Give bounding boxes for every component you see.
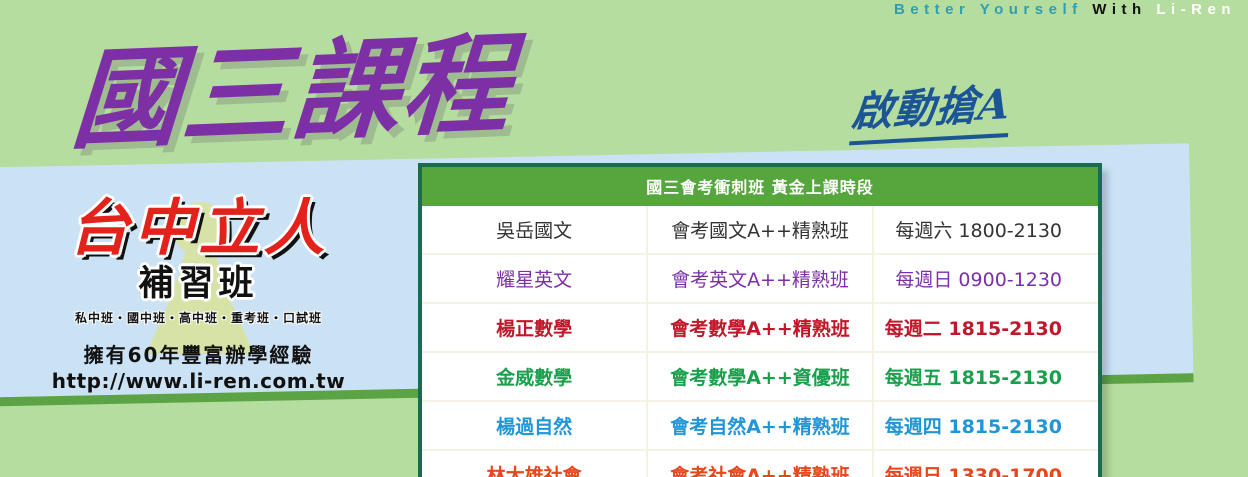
brand-tagline: Better Yourself With Li-Ren [0, 1, 1248, 18]
page-subtitle: 啟動搶A [849, 70, 1013, 146]
schedule-table: 國三會考衝刺班 黃金上課時段 吳岳國文會考國文A++精熟班每週六 1800-21… [422, 167, 1098, 477]
cell-teacher: 楊正數學 [422, 303, 647, 352]
cell-course: 會考英文A++精熟班 [647, 254, 872, 303]
cell-course: 會考社會A++精熟班 [647, 450, 872, 477]
cell-teacher: 金威數學 [422, 352, 647, 401]
cell-time: 每週二 1815-2130 [873, 303, 1098, 352]
tagline-word-liren: Li-Ren [1156, 1, 1236, 18]
poster-canvas: Better Yourself With Li-Ren 國三課程 啟動搶A 台中… [0, 0, 1248, 477]
cell-time: 每週四 1815-2130 [873, 401, 1098, 450]
table-row: 金威數學會考數學A++資優班每週五 1815-2130 [422, 352, 1098, 401]
brand-logo: 台中立人 補習班 私中班・國中班・高中班・重考班・口試班 擁有60年豐富辦學經驗… [26, 198, 371, 393]
table-row: 吳岳國文會考國文A++精熟班每週六 1800-2130 [422, 206, 1098, 254]
table-row: 楊過自然會考自然A++精熟班每週四 1815-2130 [422, 401, 1098, 450]
table-body: 吳岳國文會考國文A++精熟班每週六 1800-2130耀星英文會考英文A++精熟… [422, 206, 1098, 477]
table-row: 楊正數學會考數學A++精熟班每週二 1815-2130 [422, 303, 1098, 352]
cell-time: 每週日 0900-1230 [873, 254, 1098, 303]
table-header-row: 國三會考衝刺班 黃金上課時段 [422, 167, 1098, 206]
tagline-word-yourself: Yourself [980, 1, 1083, 18]
cell-time: 每週六 1800-2130 [873, 206, 1098, 254]
cell-teacher: 楊過自然 [422, 401, 647, 450]
schedule-table-container: 國三會考衝刺班 黃金上課時段 吳岳國文會考國文A++精熟班每週六 1800-21… [418, 163, 1102, 477]
tagline-word-better: Better [894, 1, 970, 18]
right-green-band [1186, 0, 1248, 477]
logo-experience-text: 擁有60年豐富辦學經驗 [26, 339, 371, 368]
cell-course: 會考數學A++精熟班 [647, 303, 872, 352]
table-header-title: 國三會考衝刺班 黃金上課時段 [422, 167, 1098, 206]
logo-website-url[interactable]: http://www.li-ren.com.tw [26, 369, 371, 393]
cell-course: 會考國文A++精熟班 [647, 206, 872, 254]
cell-teacher: 林大雄社會 [422, 450, 647, 477]
logo-class-list: 私中班・國中班・高中班・重考班・口試班 [26, 309, 371, 326]
cell-course: 會考自然A++精熟班 [647, 401, 872, 450]
cell-time: 每週五 1815-2130 [873, 352, 1098, 401]
page-title: 國三課程 [68, 0, 518, 171]
cell-teacher: 耀星英文 [422, 254, 647, 303]
logo-school-name: 台中立人 [26, 198, 371, 259]
cell-time: 每週日 1330-1700 [873, 450, 1098, 477]
cell-teacher: 吳岳國文 [422, 206, 647, 254]
table-row: 耀星英文會考英文A++精熟班每週日 0900-1230 [422, 254, 1098, 303]
cell-course: 會考數學A++資優班 [647, 352, 872, 401]
table-row: 林大雄社會會考社會A++精熟班每週日 1330-1700 [422, 450, 1098, 477]
tagline-word-with: With [1092, 1, 1146, 18]
